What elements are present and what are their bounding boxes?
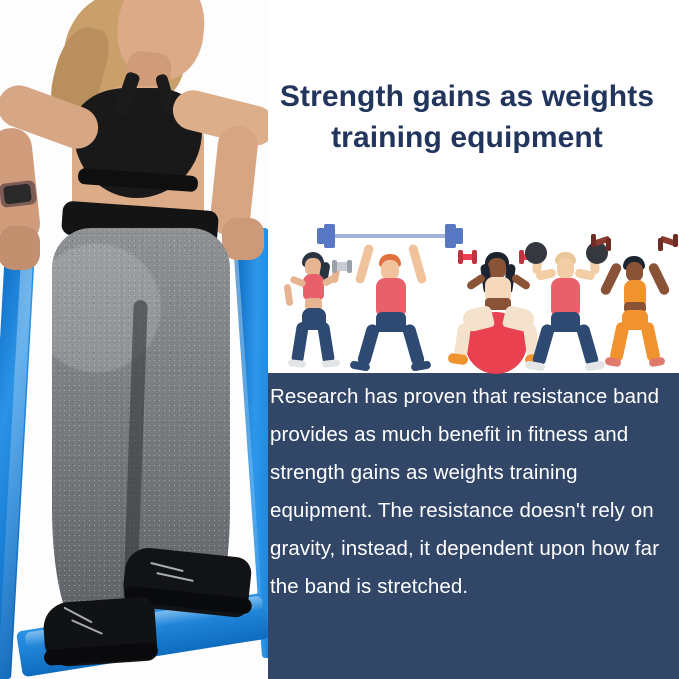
fig3-dumbbell-left-plate <box>472 250 477 264</box>
fig5-leg-left <box>609 321 630 363</box>
fig3-dumbbell-right-plate <box>519 250 524 264</box>
fig4-tank-top <box>551 278 580 316</box>
fig1-leg-right <box>317 321 335 364</box>
exercise-illustration-strip <box>280 222 679 374</box>
fig4-head <box>557 258 574 279</box>
fig5-foot-left <box>604 357 621 368</box>
fig2-leg-right <box>401 323 425 367</box>
fig1-leg-left <box>291 321 309 364</box>
fig3-dumbbell-left-plate <box>458 250 463 264</box>
fig3-arm-right <box>510 273 531 291</box>
fitness-model-photo <box>0 0 268 679</box>
fig5-arm-left <box>599 262 623 297</box>
fig2-tank-top <box>376 278 406 316</box>
fig2-leg-left <box>356 323 380 367</box>
fig5-dumbbell-left-plate <box>591 234 596 247</box>
headline: Strength gains as weights training equip… <box>262 76 672 159</box>
model-fist-left <box>0 226 40 270</box>
fig5-arm-right <box>647 262 671 297</box>
body-paragraph: Research has proven that resistance band… <box>270 378 670 606</box>
fig3-shoe-left <box>447 353 468 366</box>
fig2-arm-left <box>355 244 375 285</box>
model-fist-right <box>222 218 264 260</box>
fig5-dumbbell-right-plate <box>673 234 678 247</box>
fig2-barbell-plate-left <box>324 224 335 248</box>
fig5-head <box>626 262 643 282</box>
fig5-dumbbell-left-plate <box>606 238 611 251</box>
model-smartwatch-face <box>3 183 32 204</box>
fig2-head <box>381 260 399 280</box>
fig1-dumbbell-plate <box>347 260 352 273</box>
fig1-sports-bra <box>303 274 324 300</box>
fig2-shorts <box>376 312 406 332</box>
fig4-dumbbell-left <box>525 242 547 264</box>
fig2-barbell-plate-right-outer <box>455 228 463 244</box>
fig2-barbell-plate-left-outer <box>317 228 325 244</box>
fig4-leg-right <box>575 323 599 367</box>
fig2-arm-right <box>408 244 428 285</box>
fig1-dumbbell-plate <box>332 260 337 273</box>
fig5-dumbbell-right-plate <box>658 238 663 251</box>
fig5-foot-right <box>648 357 665 368</box>
fig1-forearm-left <box>284 284 294 307</box>
fig1-shoe-left <box>288 359 307 368</box>
fig2-barbell-bar <box>329 234 451 238</box>
poster-root: Strength gains as weights training equip… <box>0 0 679 679</box>
fig4-trousers-top <box>551 312 580 332</box>
fig1-shoe-right <box>322 359 341 368</box>
